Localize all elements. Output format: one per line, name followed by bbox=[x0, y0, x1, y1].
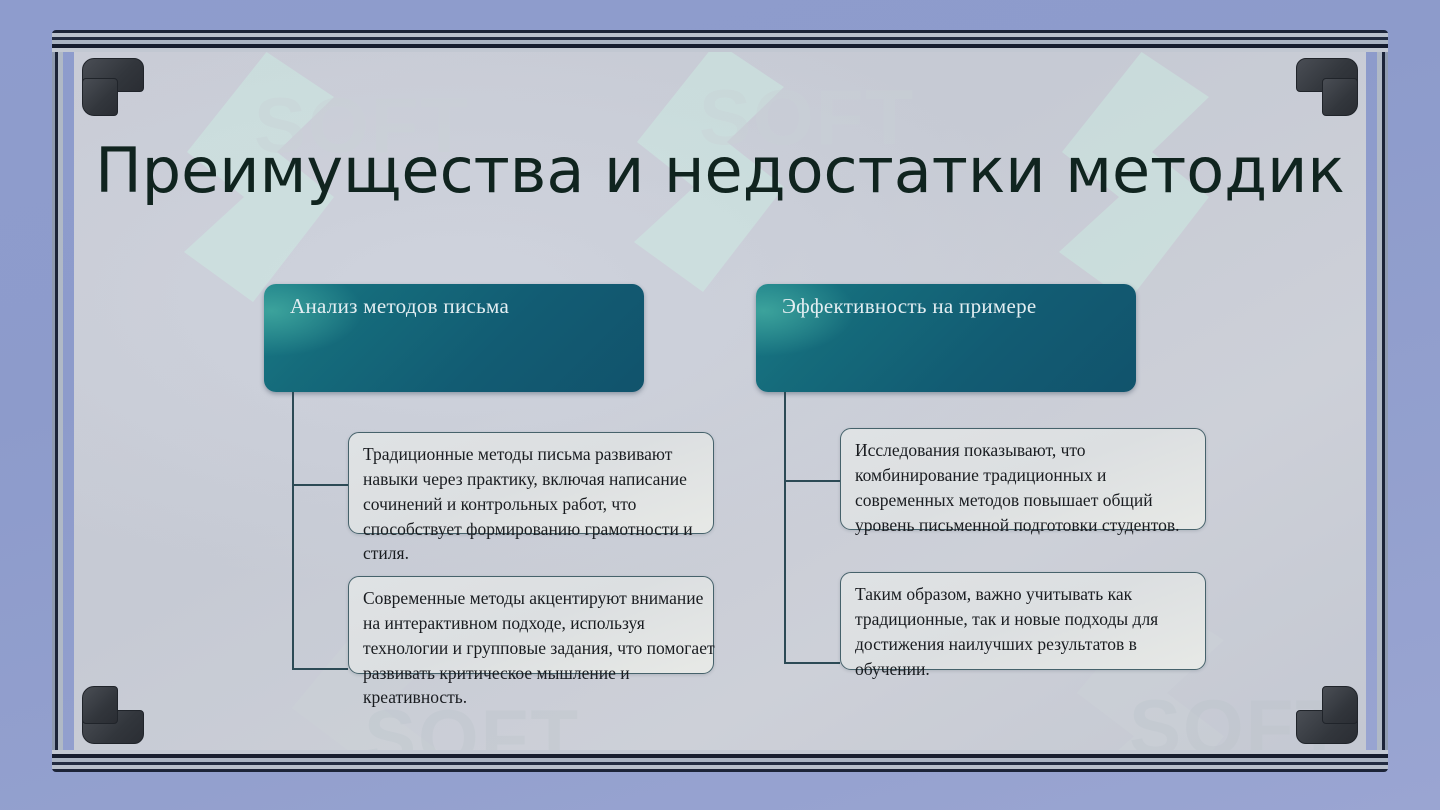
connector-horizontal-right-1 bbox=[784, 480, 840, 482]
connector-vertical-right bbox=[784, 392, 786, 664]
connector-horizontal-right-2 bbox=[784, 662, 840, 664]
diagram-node-box[interactable]: Традиционные методы письма развивают нав… bbox=[348, 432, 714, 534]
branch-header-box-left[interactable]: Анализ методов письма bbox=[264, 284, 644, 392]
slide-frame: SOFT SOFT SOFT SOFT Преимущества и недос… bbox=[52, 30, 1388, 772]
connector-horizontal-left-2 bbox=[292, 668, 348, 670]
diagram-branch-right: Эффективность на примере Исследования по… bbox=[756, 284, 1206, 392]
diagram-node-box[interactable]: Исследования показывают, что комбинирова… bbox=[840, 428, 1206, 530]
connector-horizontal-left-1 bbox=[292, 484, 348, 486]
diagram-node-text: Исследования показывают, что комбинирова… bbox=[855, 438, 1207, 537]
diagram-node-text: Современные методы акцентируют внимание … bbox=[363, 586, 715, 710]
connector-vertical-left bbox=[292, 392, 294, 670]
page-title: Преимущества и недостатки методик bbox=[74, 134, 1366, 207]
branch-header-box-right[interactable]: Эффективность на примере bbox=[756, 284, 1136, 392]
slide-canvas: SOFT SOFT SOFT SOFT Преимущества и недос… bbox=[74, 52, 1366, 750]
diagram-branch-left: Анализ методов письма Традиционные метод… bbox=[264, 284, 714, 392]
branch-header-label: Анализ методов письма bbox=[290, 294, 628, 319]
diagram-node-box[interactable]: Таким образом, важно учитывать как тради… bbox=[840, 572, 1206, 670]
diagram-node-text: Таким образом, важно учитывать как тради… bbox=[855, 582, 1207, 681]
diagram-node-box[interactable]: Современные методы акцентируют внимание … bbox=[348, 576, 714, 674]
branch-header-label: Эффективность на примере bbox=[782, 294, 1120, 319]
diagram-node-text: Традиционные методы письма развивают нав… bbox=[363, 442, 715, 566]
